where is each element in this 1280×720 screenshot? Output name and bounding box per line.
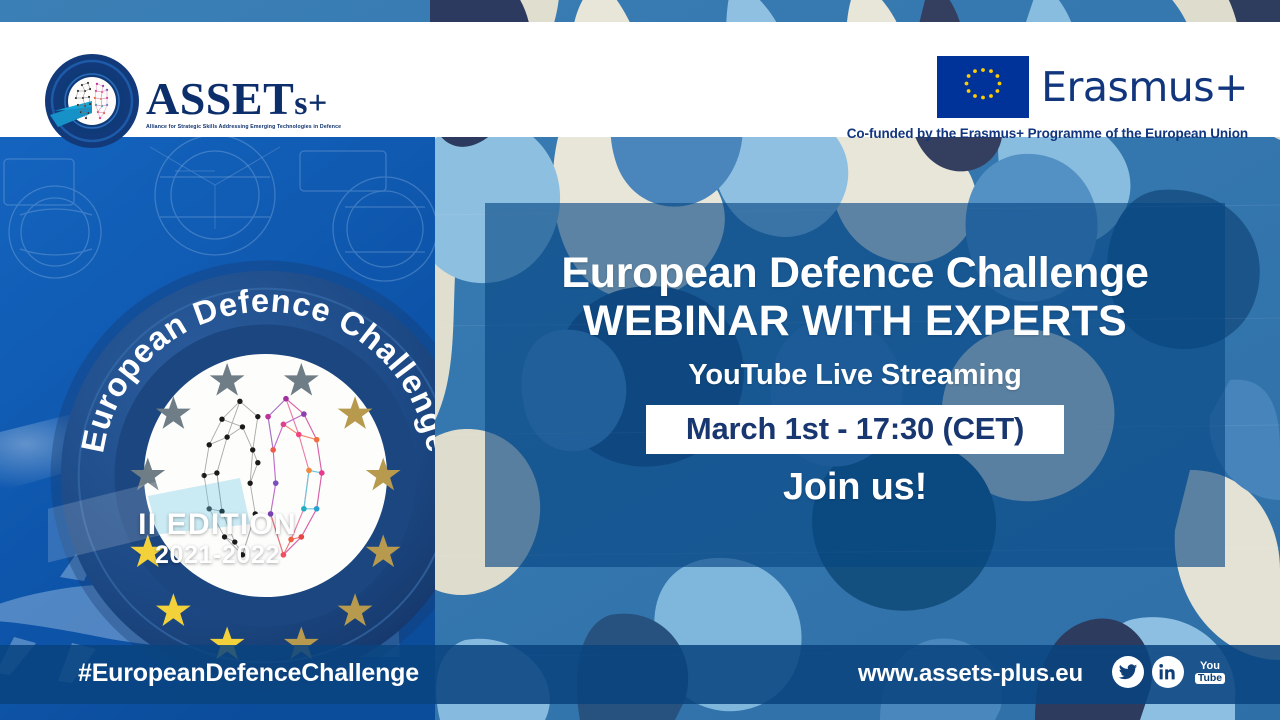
assets-tagline: Alliance for Strategic Skills Addressing… (146, 124, 341, 130)
footer-hashtag: #EuropeanDefenceChallenge (78, 659, 419, 688)
assets-circular-brain-logo-icon (44, 53, 140, 149)
twitter-icon[interactable] (1112, 656, 1144, 688)
assets-wordmark-group: ASSETs+ Alliance for Strategic Skills Ad… (146, 76, 341, 130)
youtube-label-top: You (1200, 661, 1220, 672)
cta-join-us: Join us! (485, 466, 1225, 509)
footer-website-url[interactable]: www.assets-plus.eu (858, 660, 1083, 688)
erasmus-wordmark: Erasmus+ (1041, 67, 1248, 108)
erasmus-plus-logo-block: Erasmus+ Co-funded by the Erasmus+ Progr… (847, 56, 1248, 141)
linkedin-icon[interactable] (1152, 656, 1184, 688)
assets-plus-logo: ASSETs+ Alliance for Strategic Skills Ad… (44, 50, 344, 152)
assets-wordmark-plus: + (308, 85, 328, 122)
footer-bar: #EuropeanDefenceChallenge www.assets-plu… (0, 645, 1280, 704)
assets-wordmark-main: ASSET (146, 73, 294, 124)
eu-flag-icon (937, 56, 1029, 118)
edition-label: II EDITION (0, 508, 435, 542)
assets-wordmark-s: s (294, 85, 308, 122)
date-badge: March 1st - 17:30 (CET) (646, 405, 1064, 454)
assets-wordmark: ASSETs+ (146, 76, 341, 122)
date-badge-text: March 1st - 17:30 (CET) (686, 411, 1024, 446)
title-line-1: European Defence Challenge (485, 249, 1225, 297)
title-line-2: WEBINAR WITH EXPERTS (485, 297, 1225, 345)
european-defence-challenge-badge: European Defence Challenge (48, 184, 388, 524)
social-links: You Tube (1112, 656, 1228, 688)
youtube-label-bottom: Tube (1195, 673, 1225, 684)
header-band: ASSETs+ Alliance for Strategic Skills Ad… (0, 22, 1280, 137)
erasmus-cofunding-text: Co-funded by the Erasmus+ Programme of t… (847, 126, 1248, 141)
edition-years: 2021-2022 (0, 541, 435, 570)
youtube-icon[interactable]: You Tube (1192, 656, 1228, 688)
left-collage-panel: European Defence Challenge (0, 137, 435, 720)
main-text-panel: European Defence Challenge WEBINAR WITH … (485, 203, 1225, 567)
poster-canvas: ASSETs+ Alliance for Strategic Skills Ad… (0, 0, 1280, 720)
subtitle-streaming: YouTube Live Streaming (485, 359, 1225, 392)
